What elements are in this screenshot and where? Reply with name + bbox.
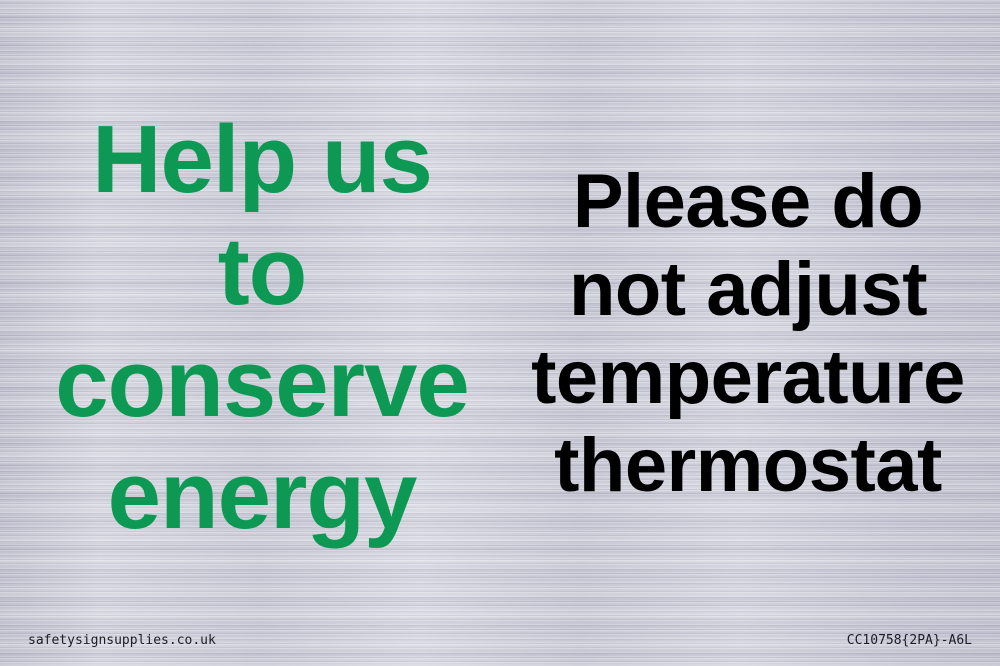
primary-message-line-4: energy bbox=[12, 440, 512, 552]
primary-message-line-2: to bbox=[12, 216, 512, 328]
primary-message-block: Help us to conserve energy bbox=[12, 104, 512, 552]
product-code: CC10758{2PA}-A6L bbox=[847, 633, 972, 648]
primary-message-line-1: Help us bbox=[12, 104, 512, 216]
secondary-message-line-2: not adjust bbox=[498, 246, 998, 334]
secondary-message-block: Please do not adjust temperature thermos… bbox=[498, 158, 998, 510]
secondary-message-line-1: Please do bbox=[498, 158, 998, 246]
secondary-message-line-4: thermostat bbox=[498, 422, 998, 510]
supplier-website: safetysignsupplies.co.uk bbox=[28, 633, 216, 648]
secondary-message-line-3: temperature bbox=[498, 334, 998, 422]
primary-message-line-3: conserve bbox=[12, 328, 512, 440]
safety-sign: Help us to conserve energy Please do not… bbox=[0, 0, 1000, 666]
